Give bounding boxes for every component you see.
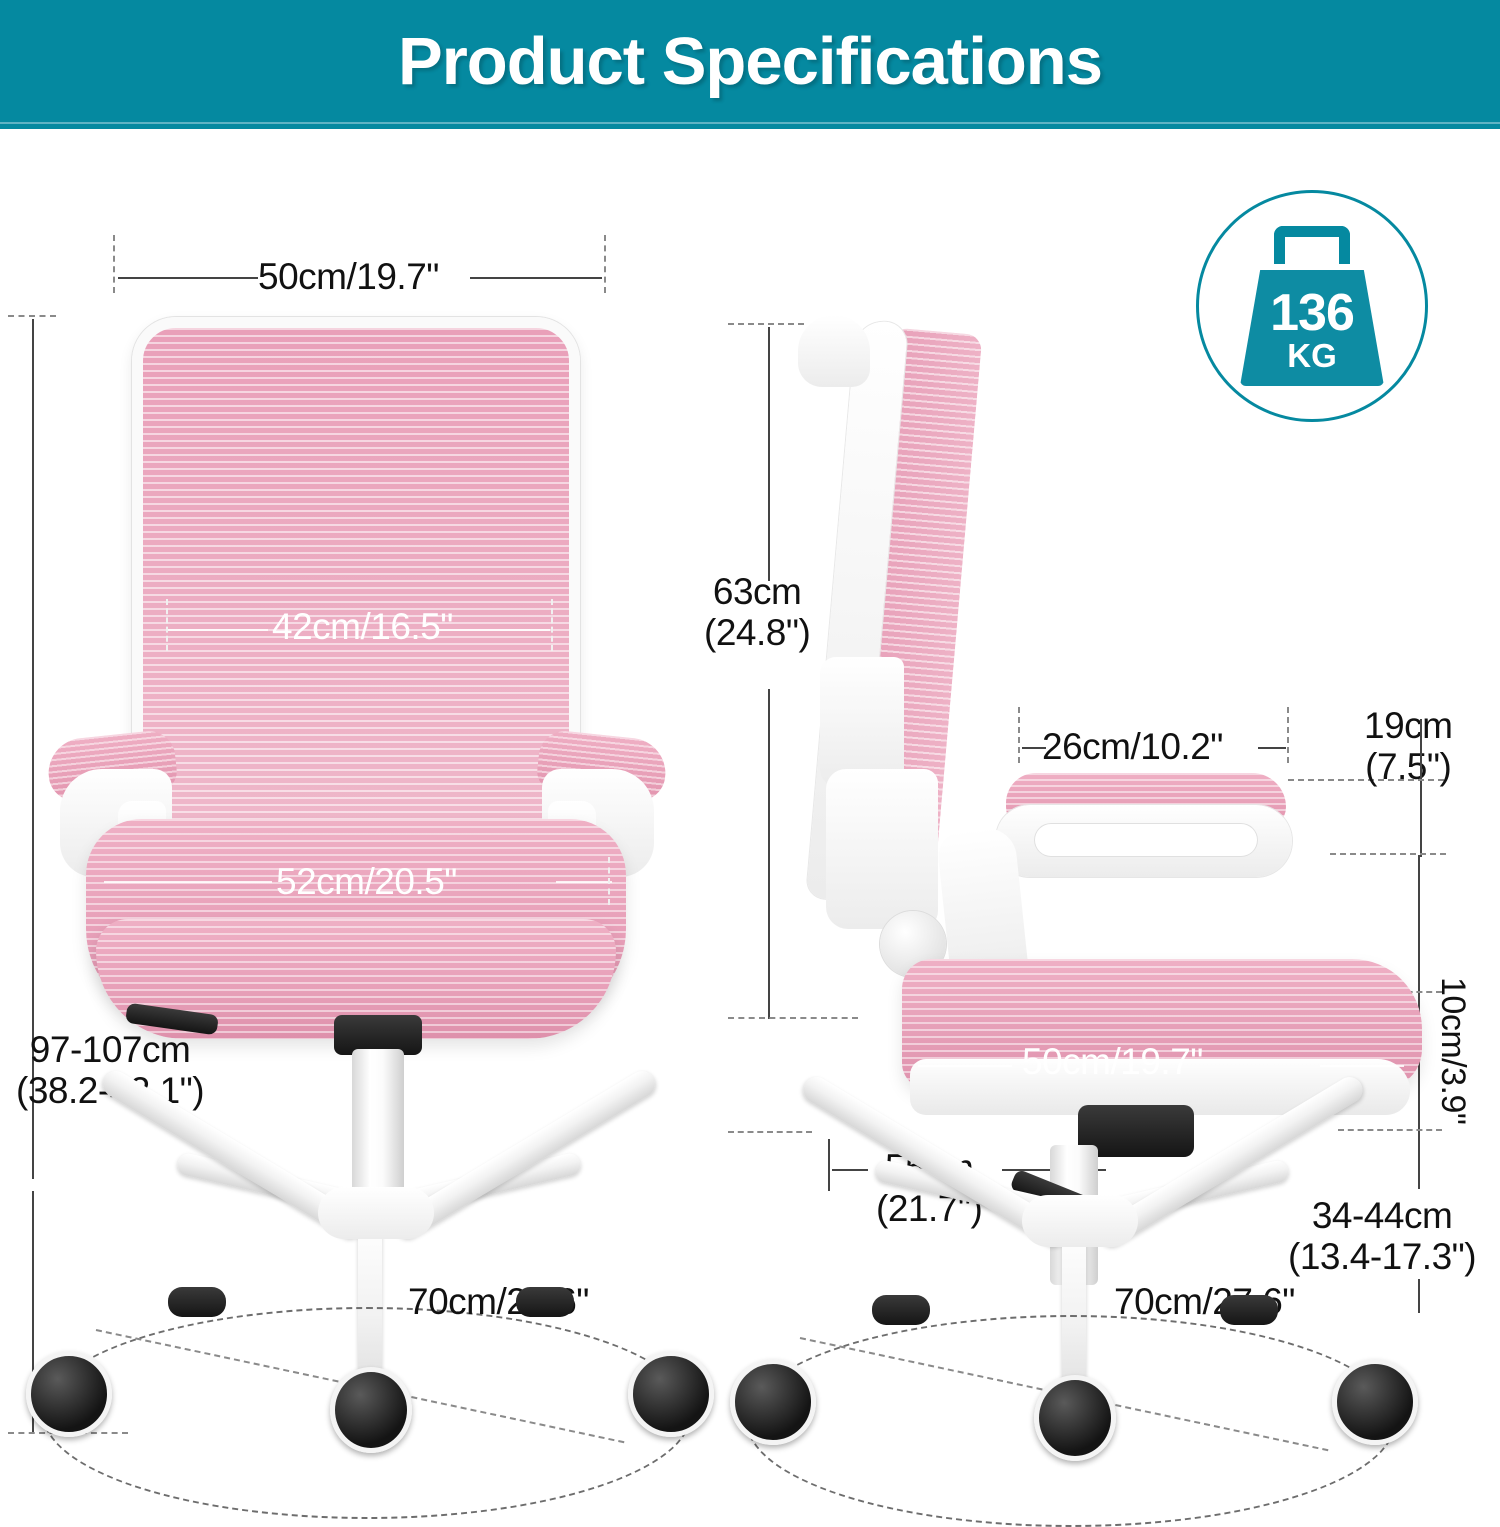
side-caster-bottom xyxy=(1034,1375,1116,1461)
side-caster-left xyxy=(730,1359,816,1445)
side-seat-height-range-label: 34-44cm (13.4-17.3") xyxy=(1288,1195,1476,1278)
front-width-tick-right xyxy=(604,235,606,293)
front-backrest-width-label: 50cm/19.7" xyxy=(258,256,439,298)
front-caster-back-left xyxy=(168,1287,226,1317)
side-armrest-height-line1: 19cm xyxy=(1364,705,1452,746)
front-width-leader-right xyxy=(470,277,602,279)
side-backrest-height-tick-bottom xyxy=(728,1017,858,1019)
side-base-hub xyxy=(1022,1195,1138,1247)
side-armrest-len-leader-right xyxy=(1258,747,1286,749)
side-backrest-height-line-upper xyxy=(768,327,770,581)
side-armrest-len-tick-right xyxy=(1287,707,1289,763)
side-seat-thickness-label: 10cm/3.9" xyxy=(1433,977,1472,1124)
front-inner-width-tick-right xyxy=(551,599,553,651)
weight-body-icon: 136 KG xyxy=(1240,270,1384,386)
side-caster-right xyxy=(1332,1359,1418,1445)
side-seat-height-line xyxy=(1418,1139,1420,1189)
side-backrest-height-label: 63cm (24.8") xyxy=(704,571,810,654)
front-base-hub xyxy=(318,1187,434,1239)
side-armrest-height-tick-bottom xyxy=(1330,853,1446,855)
weight-value: 136 xyxy=(1270,288,1354,339)
side-base-depth-tick-left xyxy=(728,1131,812,1133)
front-inner-width-leader-left xyxy=(168,629,268,631)
weight-icon: 136 KG xyxy=(1237,226,1387,386)
front-seat-width-label: 52cm/20.5" xyxy=(276,861,457,903)
weight-capacity-badge: 136 KG xyxy=(1196,190,1428,422)
side-armrest-len-tick-left xyxy=(1018,707,1020,763)
front-overall-height-label: 97-107cm (38.2-42.1") xyxy=(16,1029,204,1112)
side-seat-depth-leader-left xyxy=(918,1065,1012,1067)
weight-unit: KG xyxy=(1287,339,1337,372)
front-backrest-inner-width-label: 42cm/16.5" xyxy=(272,606,453,648)
side-seat-height-line2: (13.4-17.3") xyxy=(1288,1236,1476,1277)
side-backrest-top-cap xyxy=(798,315,870,387)
side-backrest-height-tick-top xyxy=(728,323,804,325)
side-caster-back-left xyxy=(872,1295,930,1325)
front-seat-width-tick-right xyxy=(608,857,610,905)
side-caster-back-right xyxy=(1220,1295,1278,1325)
side-seat-height-line1: 34-44cm xyxy=(1312,1195,1452,1236)
side-back-bracket xyxy=(820,657,904,787)
side-tilt-housing xyxy=(826,769,938,929)
side-backrest-height-line2: (24.8") xyxy=(704,612,810,653)
side-seat-depth-leader-right xyxy=(1320,1065,1404,1067)
front-seat-width-leader-left xyxy=(104,881,272,883)
side-seat-thickness-line xyxy=(1418,855,1420,1145)
side-seat-depth-label: 50cm/19.7" xyxy=(1022,1041,1203,1083)
header-divider xyxy=(0,122,1500,129)
side-armrest-height-label: 19cm (7.5") xyxy=(1364,705,1452,788)
weight-handle-icon xyxy=(1274,226,1350,264)
front-inner-width-leader-right xyxy=(438,629,550,631)
side-backrest-height-line1: 63cm xyxy=(713,571,801,612)
header-banner: Product Specifications xyxy=(0,0,1500,122)
front-inner-width-tick-left xyxy=(166,599,168,651)
front-caster-bottom xyxy=(330,1367,412,1453)
side-armrest-height-connector xyxy=(1420,719,1422,779)
front-caster-right xyxy=(628,1351,714,1437)
side-backrest-height-line-lower xyxy=(768,689,770,1019)
side-armrest-height-line-tail xyxy=(1420,817,1422,847)
page-title: Product Specifications xyxy=(398,23,1102,100)
front-width-tick-left xyxy=(113,235,115,293)
front-caster-left xyxy=(26,1351,112,1437)
front-width-leader-left xyxy=(118,277,258,279)
side-seat-height-line2 xyxy=(1418,1279,1420,1313)
side-base-depth-leader-left xyxy=(832,1169,868,1171)
side-armrest-length-label: 26cm/10.2" xyxy=(1042,726,1223,768)
side-armrest-loop-hole xyxy=(1034,823,1258,857)
front-height-tick-top xyxy=(8,315,56,317)
front-seat-width-leader-right xyxy=(556,881,612,883)
side-seat-thickness-tick-bottom xyxy=(1338,1129,1442,1131)
specification-diagram: 136 KG 50cm/19.7" 97-107cm (38.2-42.1") … xyxy=(0,129,1500,1450)
side-base-depth-vline xyxy=(828,1139,830,1191)
side-armrest-height-line2: (7.5") xyxy=(1365,746,1451,787)
front-caster-back-right xyxy=(516,1287,574,1317)
